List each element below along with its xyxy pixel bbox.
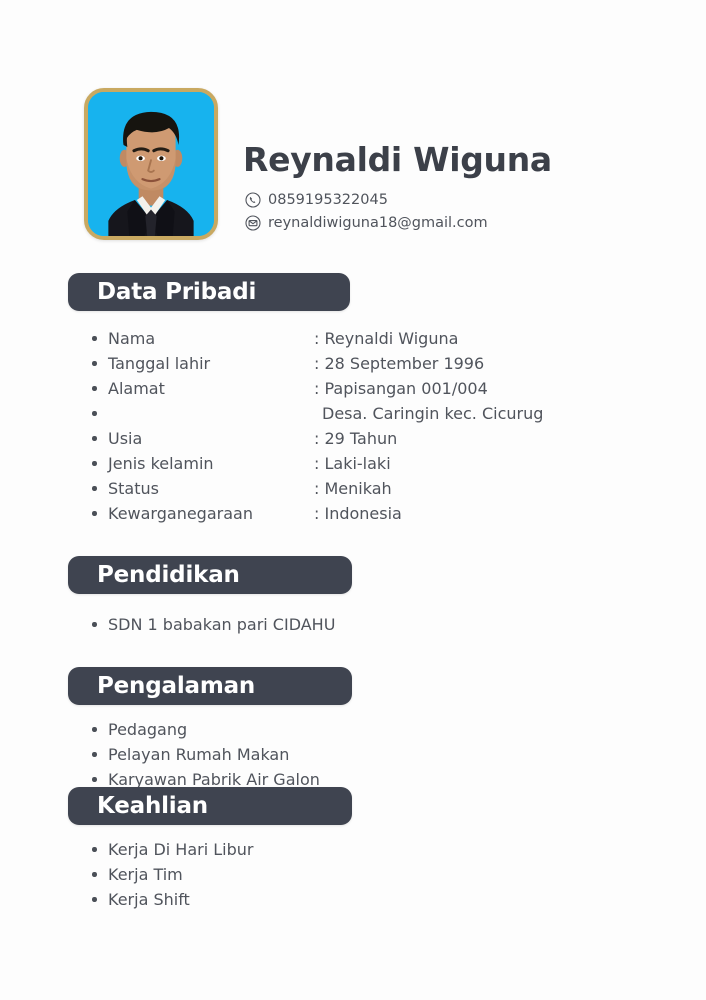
- section-title-pendidikan: Pendidikan: [68, 562, 240, 588]
- data-row: Jenis kelamin: Laki-laki: [86, 451, 543, 476]
- section-header-data-pribadi: Data Pribadi: [68, 273, 350, 311]
- envelope-icon: [245, 215, 261, 231]
- list-item: Kerja Di Hari Libur: [86, 837, 253, 862]
- contact-email[interactable]: reynaldiwiguna18@gmail.com: [245, 215, 488, 231]
- section-header-keahlian: Keahlian: [68, 787, 352, 825]
- contact-phone[interactable]: 0859195322045: [245, 192, 388, 208]
- data-label: Jenis kelamin: [108, 451, 314, 476]
- data-row: Tanggal lahir: 28 September 1996: [86, 351, 543, 376]
- keahlian-list: Kerja Di Hari Libur Kerja Tim Kerja Shif…: [86, 837, 253, 912]
- cv-header: Reynaldi Wiguna 0859195322045 reynaldiwi…: [0, 88, 706, 248]
- contact-email-text: reynaldiwiguna18@gmail.com: [268, 215, 488, 231]
- section-title-pengalaman: Pengalaman: [68, 673, 255, 699]
- section-title-keahlian: Keahlian: [68, 793, 208, 819]
- data-row: Nama: Reynaldi Wiguna: [86, 326, 543, 351]
- contact-phone-text: 0859195322045: [268, 192, 388, 208]
- pendidikan-list: SDN 1 babakan pari CIDAHU: [86, 612, 335, 637]
- data-row: Alamat: Papisangan 001/004: [86, 376, 543, 401]
- data-value: : 28 September 1996: [314, 351, 484, 376]
- pengalaman-list: Pedagang Pelayan Rumah Makan Karyawan Pa…: [86, 717, 320, 792]
- list-item: Kerja Tim: [86, 862, 253, 887]
- data-value: : 29 Tahun: [314, 426, 397, 451]
- data-row-continuation: Desa. Caringin kec. Cicurug: [86, 401, 543, 426]
- list-item: SDN 1 babakan pari CIDAHU: [86, 612, 335, 637]
- data-label: Status: [108, 476, 314, 501]
- data-label: Nama: [108, 326, 314, 351]
- page-title: Reynaldi Wiguna: [243, 140, 552, 179]
- profile-photo: [84, 88, 218, 240]
- data-value: : Menikah: [314, 476, 392, 501]
- data-value: Desa. Caringin kec. Cicurug: [314, 401, 543, 426]
- data-row: Status: Menikah: [86, 476, 543, 501]
- data-row: Kewarganegaraan: Indonesia: [86, 501, 543, 526]
- data-label: Alamat: [108, 376, 314, 401]
- portrait-illustration: [88, 92, 214, 236]
- data-value: : Papisangan 001/004: [314, 376, 488, 401]
- phone-icon: [245, 192, 261, 208]
- data-pribadi-list: Nama: Reynaldi Wiguna Tanggal lahir: 28 …: [86, 326, 543, 526]
- list-item: Pelayan Rumah Makan: [86, 742, 320, 767]
- data-row: Usia: 29 Tahun: [86, 426, 543, 451]
- data-label: Usia: [108, 426, 314, 451]
- data-value: : Laki-laki: [314, 451, 391, 476]
- section-header-pengalaman: Pengalaman: [68, 667, 352, 705]
- list-item: Pedagang: [86, 717, 320, 742]
- data-label: Kewarganegaraan: [108, 501, 314, 526]
- cv-page: Reynaldi Wiguna 0859195322045 reynaldiwi…: [0, 0, 706, 1000]
- section-title-data-pribadi: Data Pribadi: [68, 279, 256, 305]
- section-header-pendidikan: Pendidikan: [68, 556, 352, 594]
- list-item: Kerja Shift: [86, 887, 253, 912]
- data-value: : Reynaldi Wiguna: [314, 326, 458, 351]
- data-value: : Indonesia: [314, 501, 402, 526]
- data-label: Tanggal lahir: [108, 351, 314, 376]
